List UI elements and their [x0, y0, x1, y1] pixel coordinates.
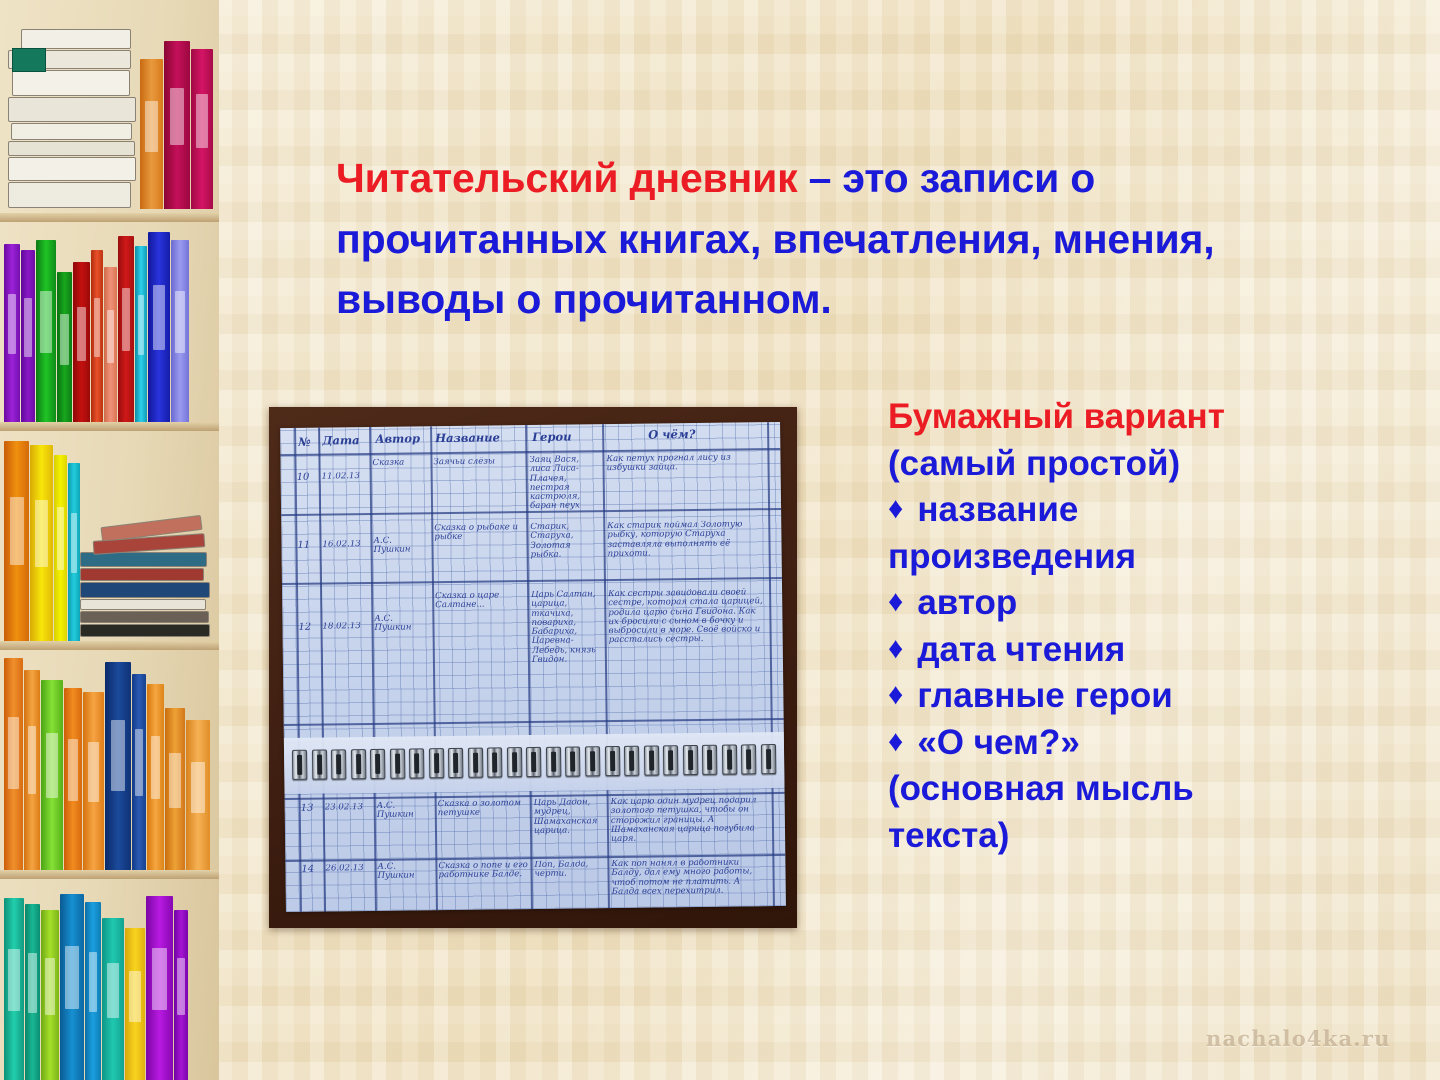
diamond-bullet-icon: ♦ [888, 582, 903, 622]
table-cell: 23.02.13 [325, 803, 373, 813]
list-item-label: главные герои [917, 676, 1172, 715]
shelf-book [24, 670, 40, 870]
spiral-coil [644, 745, 659, 775]
paper-variant-list: Бумажный вариант (самый простой) ♦назван… [888, 394, 1292, 859]
spiral-coil [448, 748, 463, 778]
shelf-book [91, 250, 103, 422]
shelf-book [4, 898, 24, 1080]
slide-title: Читательский дневник – это записи о проч… [336, 148, 1284, 330]
spiral-coil [741, 744, 756, 774]
shelf-book [186, 720, 210, 870]
spiral-coil [409, 748, 424, 778]
table-cell: 26.02.13 [325, 864, 373, 874]
shelf-book [64, 688, 82, 870]
notebook-page: № Дата Автор Название Герои О чём? 10 11… [280, 422, 786, 912]
table-header-cell: № [298, 436, 316, 449]
diamond-bullet-icon: ♦ [888, 722, 903, 762]
spiral-coil [683, 745, 698, 775]
reader-diary-notebook-photo: № Дата Автор Название Герои О чём? 10 11… [269, 407, 797, 928]
table-cell: Как петух прогнал лису из избушки зайца. [606, 453, 764, 473]
shelf-book [57, 272, 72, 422]
table-cell: 18.02.13 [322, 622, 370, 632]
list-item: ♦главные герои [888, 673, 1292, 720]
list-item-label: название произведения [888, 490, 1136, 576]
shelf-book [36, 240, 56, 422]
spiral-coil [429, 748, 444, 778]
table-cell: Старик, Старуха, Золотая рыбка. [530, 522, 600, 560]
table-cell: Царь Дадон, мудрец, Шамаханская царица. [534, 798, 604, 836]
table-cell: Поп, Балда, черти. [534, 860, 604, 879]
shelf-book [83, 692, 104, 870]
table-cell: Как поп нанял в работники Балду, дал ему… [611, 858, 769, 897]
stacked-book [8, 182, 131, 208]
shelf-book [4, 244, 20, 422]
slide-title-red: Читательский дневник [336, 155, 797, 201]
table-column-rule [294, 428, 302, 912]
spiral-coil [526, 747, 541, 777]
shelf-book [85, 902, 101, 1080]
list-item: ♦автор [888, 580, 1292, 627]
shelf-book [4, 441, 29, 641]
diary-table: № Дата Автор Название Герои О чём? 10 11… [280, 422, 786, 912]
shelf-book [191, 49, 213, 209]
table-column-rule [318, 428, 326, 912]
shelf-book [4, 658, 23, 870]
shelf-book [118, 236, 134, 422]
shelf-book [174, 910, 188, 1080]
shelf-book [41, 680, 63, 870]
list-item: ♦название произведения [888, 487, 1292, 580]
slide-canvas: Читательский дневник – это записи о проч… [0, 0, 1440, 1080]
table-row-rule [284, 718, 784, 726]
table-column-rule [369, 427, 377, 911]
table-cell: 10 [297, 473, 317, 484]
spiral-coil [585, 746, 600, 776]
table-row-rule [282, 577, 782, 585]
panel-heading-blue: (самый простой) [888, 444, 1180, 483]
table-cell: А.С. Пушкин [377, 801, 433, 820]
spiral-coil [487, 747, 502, 777]
table-cell: Сказка [372, 458, 428, 468]
table-cell: 16.02.13 [322, 540, 368, 550]
stacked-book [11, 123, 133, 140]
stacked-book [21, 29, 131, 49]
table-header-cell: Герои [532, 430, 598, 443]
spiral-coil [468, 748, 483, 778]
stacked-book [80, 568, 204, 581]
bookshelf-photo-strip [0, 0, 219, 1080]
shelf-book [171, 240, 189, 422]
shelf-book [41, 910, 59, 1080]
spiral-coil [507, 747, 522, 777]
shelf-book [60, 894, 84, 1080]
table-cell: 12 [298, 623, 318, 634]
table-cell: Как старик поймал Золотую рыбку, которую… [607, 520, 765, 559]
table-cell: Как сестры завидовали своей сестре, кото… [608, 588, 767, 646]
spiral-coil [546, 747, 561, 777]
shelf-book [104, 267, 117, 422]
shelf-book [146, 896, 173, 1080]
table-cell: Сказка о царе Салтане... [435, 591, 525, 611]
spiral-coil [565, 746, 580, 776]
shelf-book [132, 674, 146, 870]
table-cell: Как царю один мудрец подарил золотого пе… [611, 796, 770, 844]
stacked-book [80, 582, 210, 598]
list-item-label: «О чем?» [917, 723, 1079, 762]
spiral-coil [390, 749, 405, 779]
table-cell: А.С. Пушкин [377, 862, 433, 881]
shelf-book [21, 250, 35, 422]
table-column-rule [430, 426, 438, 910]
spiral-coil [292, 750, 307, 780]
shelf-book [105, 662, 131, 870]
table-cell: 13 [301, 804, 321, 815]
spiral-coil [604, 746, 619, 776]
list-item-label: дата чтения [917, 630, 1125, 669]
shelf-book [25, 904, 40, 1080]
table-cell: 14 [301, 865, 321, 876]
shelf-book [102, 918, 124, 1080]
panel-heading-red: Бумажный вариант [888, 397, 1225, 436]
table-cell: Заячьи слёзы [433, 457, 523, 467]
shelf-book [54, 455, 67, 641]
stacked-book [8, 157, 136, 181]
table-cell: А.С. Пушкин [373, 536, 429, 555]
shelf-book [147, 684, 164, 870]
stacked-book [12, 70, 130, 96]
spiral-coil [351, 749, 366, 779]
shelf-book [68, 463, 80, 641]
table-cell: Царь Салтан, царица, ткачиха, повариха, … [531, 590, 602, 665]
table-header-cell: Автор [375, 432, 429, 445]
bookshelf-shelf-2 [0, 231, 219, 431]
accent-book-green [12, 48, 46, 72]
shelf-book [135, 246, 147, 422]
shelf-book [73, 262, 90, 422]
table-column-rule [602, 424, 610, 908]
table-cell: Сказка о золотом петушке [438, 799, 528, 819]
diamond-bullet-icon: ♦ [888, 629, 903, 669]
spiral-coil [624, 746, 639, 776]
bookshelf-shelf-5 [0, 888, 219, 1080]
bookshelf-shelf-3 [0, 440, 219, 650]
spiral-coil [331, 749, 346, 779]
list-item-label: автор [917, 583, 1017, 622]
spiral-coil [663, 745, 678, 775]
shelf-book [125, 928, 145, 1080]
table-header-cell: Название [435, 431, 523, 444]
stacked-book [80, 611, 209, 623]
shelf-book [148, 232, 170, 422]
stacked-book [8, 141, 135, 156]
stacked-book [8, 97, 136, 122]
list-item: ♦«О чем?» [888, 720, 1292, 767]
stacked-book [80, 599, 206, 610]
panel-footer: (основная мысль текста) [888, 766, 1292, 859]
list-item: ♦дата чтения [888, 627, 1292, 674]
table-cell: А.С. Пушкин [374, 614, 430, 633]
bookshelf-shelf-1 [0, 0, 219, 222]
site-watermark: nachalo4ka.ru [1206, 1026, 1391, 1051]
table-cell: 11 [297, 541, 317, 552]
table-cell: 11.02.13 [322, 472, 368, 482]
table-cell: Сказка о попе и его работнике Балде. [438, 861, 528, 881]
shelf-book [165, 708, 185, 870]
shelf-book [164, 41, 190, 209]
table-header-cell: О чём? [648, 428, 728, 441]
table-cell: Заяц Вася, лиса Лиса-Плачея, пестрая кас… [529, 455, 600, 512]
stacked-books-group [80, 521, 210, 638]
spiral-coil [370, 749, 385, 779]
spiral-coil [702, 745, 717, 775]
table-cell: Сказка о рыбаке и рыбке [434, 523, 524, 543]
diamond-bullet-icon: ♦ [888, 489, 903, 529]
spiral-coil [722, 745, 737, 775]
spiral-coil [761, 744, 776, 774]
shelf-book [30, 445, 53, 641]
spiral-coil [312, 750, 327, 780]
shelf-book [140, 59, 163, 209]
spiral-binding [292, 744, 776, 780]
bookshelf-shelf-4 [0, 659, 219, 879]
diamond-bullet-icon: ♦ [888, 675, 903, 715]
stacked-book [80, 624, 210, 637]
table-header-cell: Дата [322, 434, 368, 447]
